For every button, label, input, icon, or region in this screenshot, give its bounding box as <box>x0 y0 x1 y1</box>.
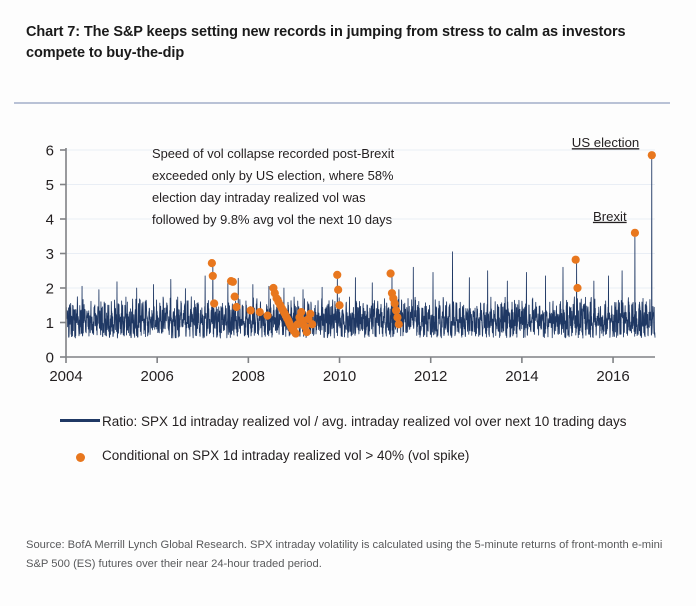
x-axis-tick-label: 2008 <box>232 368 265 385</box>
y-axis-tick-label: 1 <box>46 315 54 332</box>
legend-label-vol-spike: Conditional on SPX 1d intraday realized … <box>102 446 469 466</box>
vol-spike-point <box>391 299 399 307</box>
y-axis-tick-label: 3 <box>46 246 54 263</box>
y-axis-tick-label: 0 <box>46 350 54 367</box>
legend-item-vol-spike: Conditional on SPX 1d intraday realized … <box>58 446 658 466</box>
vol-spike-point <box>393 313 401 321</box>
legend-label-ratio-line1: Ratio: SPX 1d intraday realized vol / av… <box>102 414 471 429</box>
vol-spike-point <box>247 306 255 314</box>
y-axis-tick-label: 6 <box>46 143 54 160</box>
vol-spike-point <box>297 308 305 316</box>
vol-spike-point <box>229 278 237 286</box>
legend-line-marker-icon <box>58 412 102 422</box>
vol-spike-point <box>210 299 218 307</box>
annotation-line: followed by 9.8% avg vol the next 10 day… <box>152 212 392 227</box>
vol-spike-point <box>572 256 580 264</box>
vol-spike-point <box>263 312 271 320</box>
x-axis-tick-label: 2016 <box>596 368 629 385</box>
x-axis-tick-label: 2012 <box>414 368 447 385</box>
legend-dot-marker-icon <box>58 446 102 462</box>
peak-callouts: US electionBrexit <box>572 135 639 224</box>
volatility-ratio-chart: 01234562004200620082010201220142016Speed… <box>0 130 696 395</box>
page-title: Chart 7: The S&P keeps setting new recor… <box>26 22 656 63</box>
chart-page: Chart 7: The S&P keeps setting new recor… <box>0 0 696 606</box>
peak-callout-label: Brexit <box>593 209 627 224</box>
vol-spike-point <box>334 286 342 294</box>
vol-spike-point <box>232 303 240 311</box>
vol-spike-point <box>648 151 656 159</box>
chart-legend: Ratio: SPX 1d intraday realized vol / av… <box>58 412 658 479</box>
vol-spike-point <box>209 272 217 280</box>
y-axis-tick-label: 5 <box>46 177 54 194</box>
vol-spike-point <box>308 320 316 328</box>
vol-spike-point <box>333 271 341 279</box>
x-axis: 2004200620082010201220142016 <box>49 357 629 385</box>
annotation-line: exceeded only by US election, where 58% <box>152 168 394 183</box>
chart-container: 01234562004200620082010201220142016Speed… <box>0 130 696 395</box>
vol-spike-point <box>208 259 216 267</box>
vol-spike-point <box>631 229 639 237</box>
x-axis-tick-label: 2014 <box>505 368 538 385</box>
vol-spike-point <box>306 310 314 318</box>
legend-item-ratio-line: Ratio: SPX 1d intraday realized vol / av… <box>58 412 658 432</box>
x-axis-tick-label: 2004 <box>49 368 82 385</box>
vol-spike-point <box>256 308 264 316</box>
x-axis-tick-label: 2006 <box>140 368 173 385</box>
vol-spike-point <box>386 269 394 277</box>
vol-spike-point <box>292 329 300 337</box>
source-note: Source: BofA Merrill Lynch Global Resear… <box>26 536 671 575</box>
annotation-line: Speed of vol collapse recorded post-Brex… <box>152 146 395 161</box>
vol-spike-point <box>303 328 311 336</box>
legend-label-ratio: Ratio: SPX 1d intraday realized vol / av… <box>102 412 627 432</box>
vol-spike-point <box>335 301 343 309</box>
peak-callout-label: US election <box>572 135 639 150</box>
y-axis-tick-label: 2 <box>46 281 54 298</box>
header-divider <box>14 102 670 104</box>
vol-spike-point <box>395 320 403 328</box>
annotation-line: election day intraday realized vol was <box>152 190 366 205</box>
vol-spike-point <box>573 284 581 292</box>
vol-spike-point <box>392 306 400 314</box>
legend-label-ratio-line2: over next 10 trading days <box>475 414 627 429</box>
y-axis: 0123456 <box>46 143 66 367</box>
x-axis-tick-label: 2010 <box>323 368 356 385</box>
vol-spike-point <box>231 293 239 301</box>
chart-annotation-text: Speed of vol collapse recorded post-Brex… <box>152 146 395 227</box>
y-axis-tick-label: 4 <box>46 212 54 229</box>
